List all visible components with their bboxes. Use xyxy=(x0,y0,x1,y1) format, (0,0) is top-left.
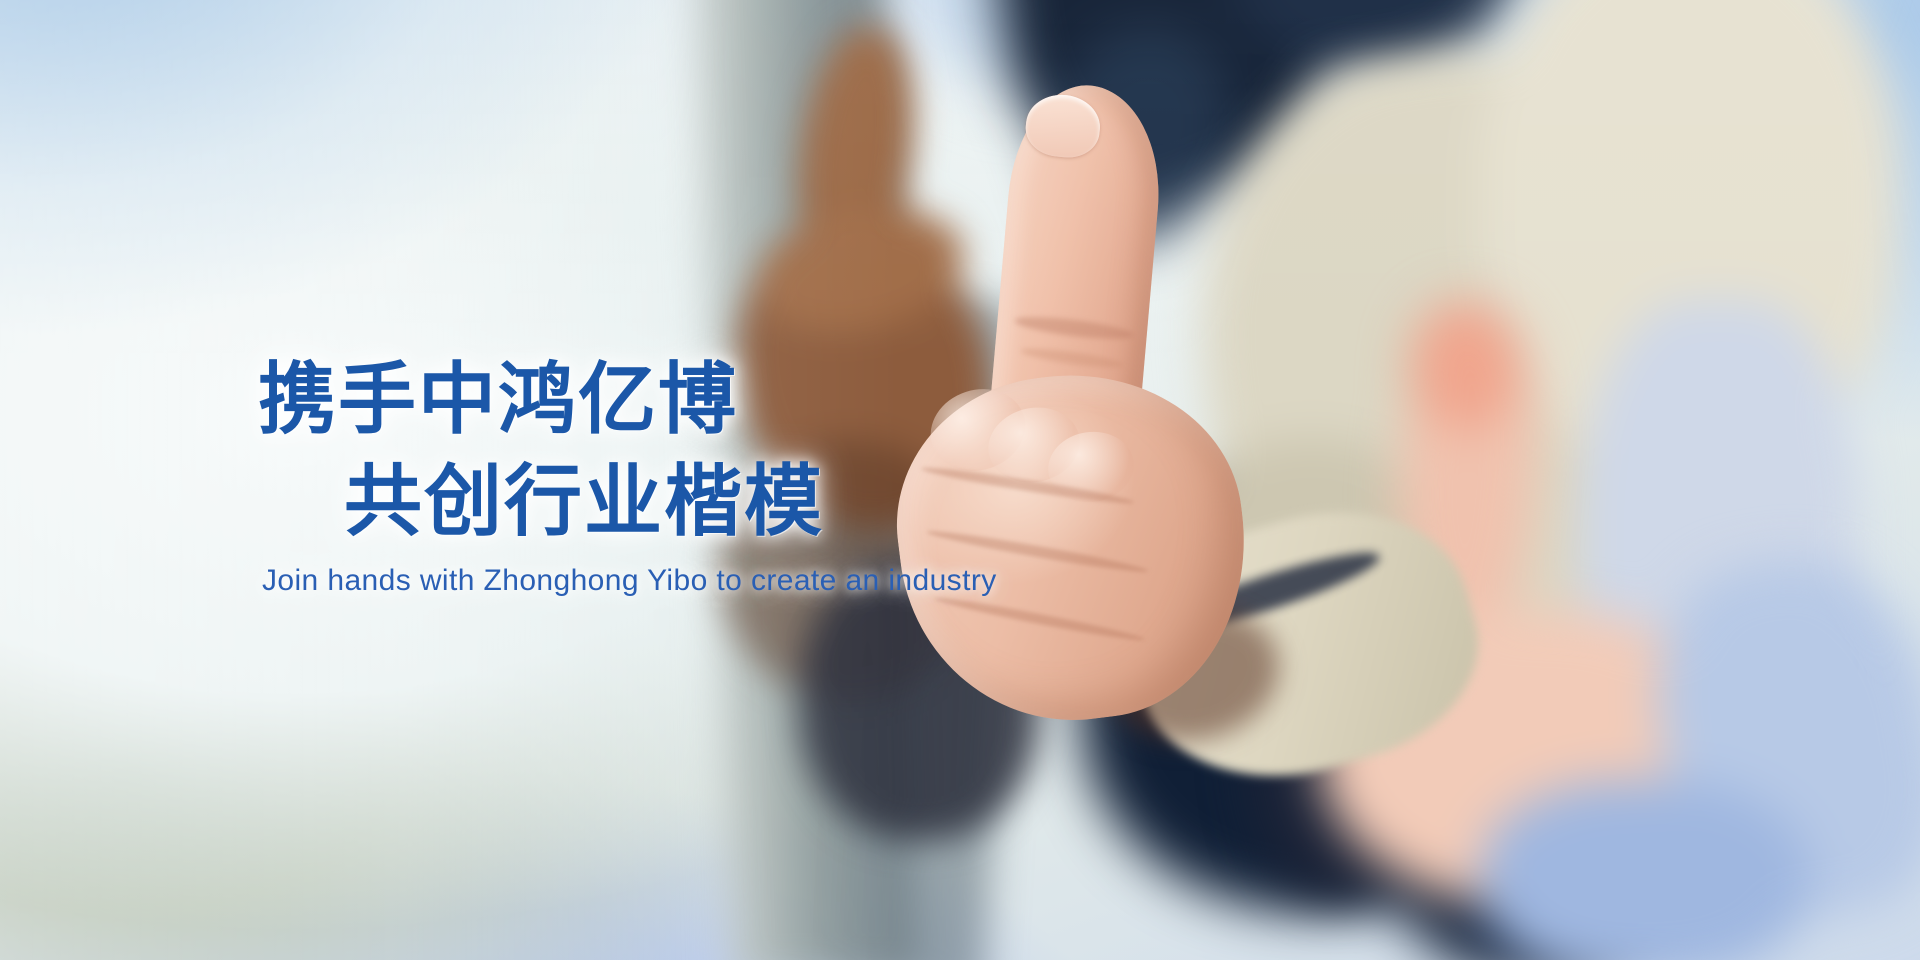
subline-english: Join hands with Zhonghong Yibo to create… xyxy=(262,566,997,596)
headline-line-1: 携手中鸿亿博 xyxy=(258,360,738,438)
headline-line-2: 共创行业楷模 xyxy=(344,462,824,540)
banner-copy: 携手中鸿亿博 共创行业楷模 Join hands with Zhonghong … xyxy=(0,0,1920,960)
hero-banner: 携手中鸿亿博 共创行业楷模 Join hands with Zhonghong … xyxy=(0,0,1920,960)
